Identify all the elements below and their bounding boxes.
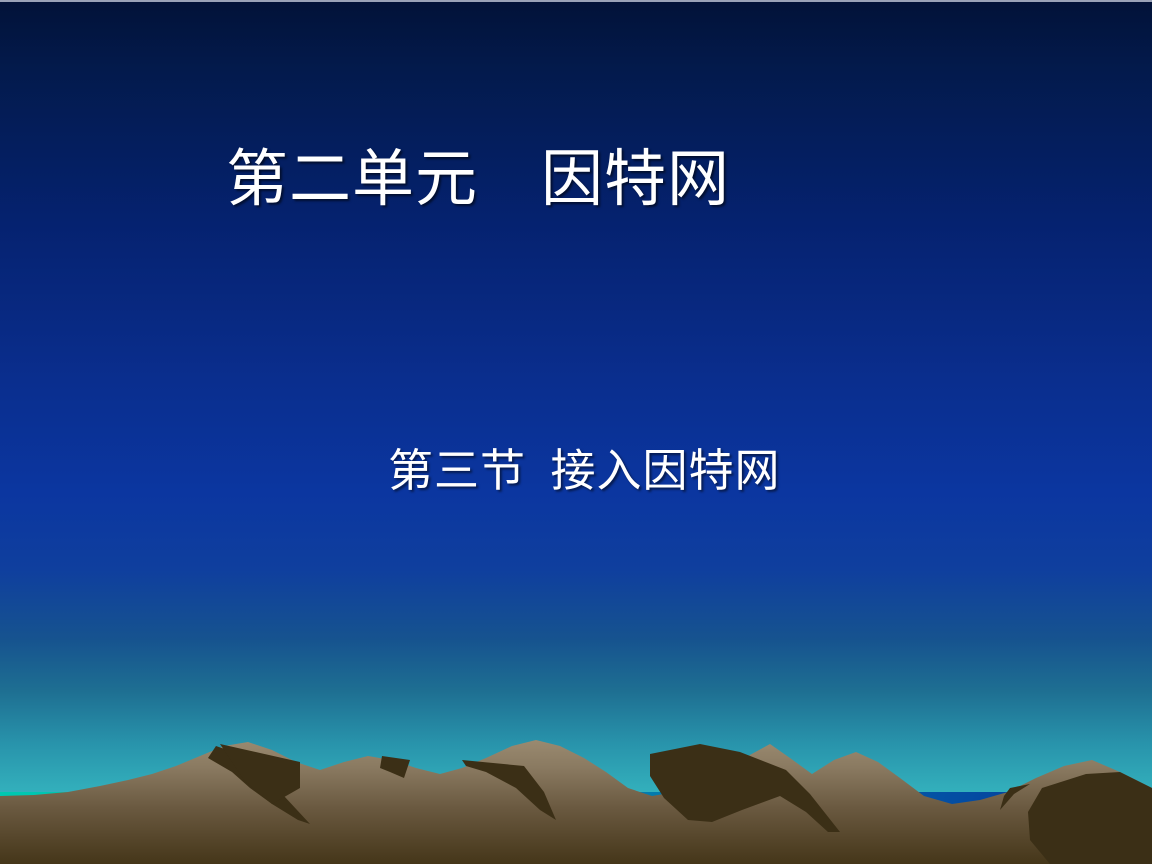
mountain-range-illustration (0, 700, 1152, 864)
slide-top-border-rule (0, 0, 1152, 2)
presentation-slide: 第二单元 因特网 第三节 接入因特网 (0, 0, 1152, 864)
slide-subtitle: 第三节 接入因特网 (388, 443, 1088, 499)
page-title: 第二单元 因特网 (226, 142, 986, 220)
